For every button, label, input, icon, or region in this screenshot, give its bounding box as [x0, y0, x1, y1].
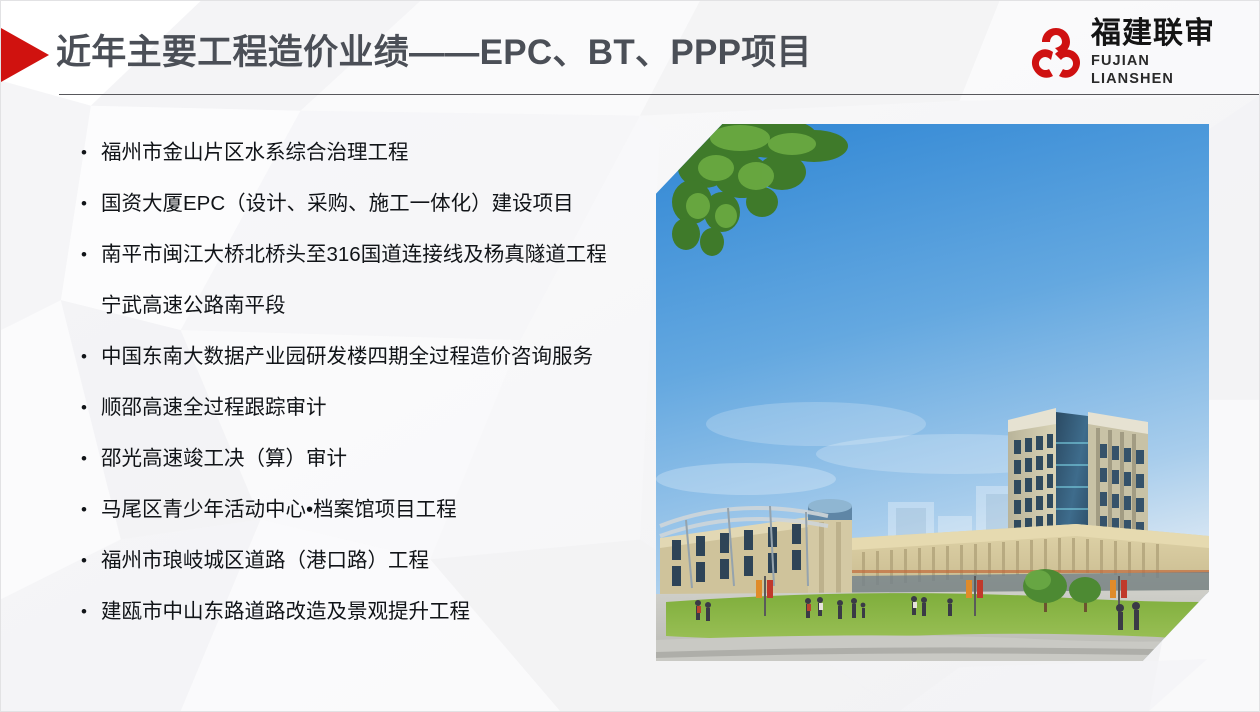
list-item-label: 邵光高速竣工决（算）审计: [101, 445, 347, 473]
list-item: • 福州市琅岐城区道路（港口路）工程: [81, 547, 641, 598]
bullet-dot-icon: •: [81, 496, 101, 524]
bullet-dot-icon: •: [81, 139, 101, 167]
list-item-continuation: 宁武高速公路南平段: [81, 292, 641, 343]
list-item: • 建瓯市中山东路道路改造及景观提升工程: [81, 598, 641, 649]
three-swirl-mark-icon: [1028, 26, 1084, 80]
list-item: • 南平市闽江大桥北桥头至316国道连接线及杨真隧道工程: [81, 241, 641, 292]
slide-header: 近年主要工程造价业绩——EPC、BT、PPP项目 福建联审 FUJIAN LIA…: [1, 1, 1260, 105]
list-item-label: 南平市闽江大桥北桥头至316国道连接线及杨真隧道工程: [101, 241, 607, 269]
bullet-dot-icon: •: [81, 190, 101, 218]
logo-wordmark: 福建联审 FUJIAN LIANSHEN: [1091, 18, 1233, 88]
bullet-dot-icon: •: [81, 343, 101, 371]
company-logo: 福建联审 FUJIAN LIANSHEN: [1028, 21, 1233, 84]
title-divider: [59, 94, 1260, 95]
list-item-label: 中国东南大数据产业园研发楼四期全过程造价咨询服务: [101, 343, 593, 371]
list-item: • 国资大厦EPC（设计、采购、施工一体化）建设项目: [81, 190, 641, 241]
project-rendering-image: [656, 124, 1209, 661]
list-item: • 顺邵高速全过程跟踪审计: [81, 394, 641, 445]
page-title: 近年主要工程造价业绩——EPC、BT、PPP项目: [56, 30, 812, 76]
list-item-label: 福州市金山片区水系综合治理工程: [101, 139, 409, 167]
list-item-label: 国资大厦EPC（设计、采购、施工一体化）建设项目: [101, 190, 574, 218]
list-item-label: 福州市琅岐城区道路（港口路）工程: [101, 547, 429, 575]
bullet-dot-icon: •: [81, 547, 101, 575]
logo-name-en: FUJIAN LIANSHEN: [1091, 52, 1233, 88]
bullet-dot-icon: •: [81, 598, 101, 626]
slide: 近年主要工程造价业绩——EPC、BT、PPP项目 福建联审 FUJIAN LIA…: [0, 0, 1260, 712]
list-item-label: 建瓯市中山东路道路改造及景观提升工程: [101, 598, 470, 626]
bullet-dot-icon: •: [81, 394, 101, 422]
list-item: • 邵光高速竣工决（算）审计: [81, 445, 641, 496]
bullet-dot-icon: •: [81, 241, 101, 269]
list-item-label: 马尾区青少年活动中心•档案馆项目工程: [101, 496, 457, 524]
bullet-dot-icon: •: [81, 445, 101, 473]
project-bullet-list: • 福州市金山片区水系综合治理工程 • 国资大厦EPC（设计、采购、施工一体化）…: [81, 139, 641, 649]
list-item-label: 宁武高速公路南平段: [101, 292, 286, 320]
title-arrow-icon: [1, 28, 49, 82]
list-item: • 中国东南大数据产业园研发楼四期全过程造价咨询服务: [81, 343, 641, 394]
list-item-label: 顺邵高速全过程跟踪审计: [101, 394, 327, 422]
list-item: • 马尾区青少年活动中心•档案馆项目工程: [81, 496, 641, 547]
list-item: • 福州市金山片区水系综合治理工程: [81, 139, 641, 190]
logo-name-cn: 福建联审: [1091, 18, 1233, 50]
